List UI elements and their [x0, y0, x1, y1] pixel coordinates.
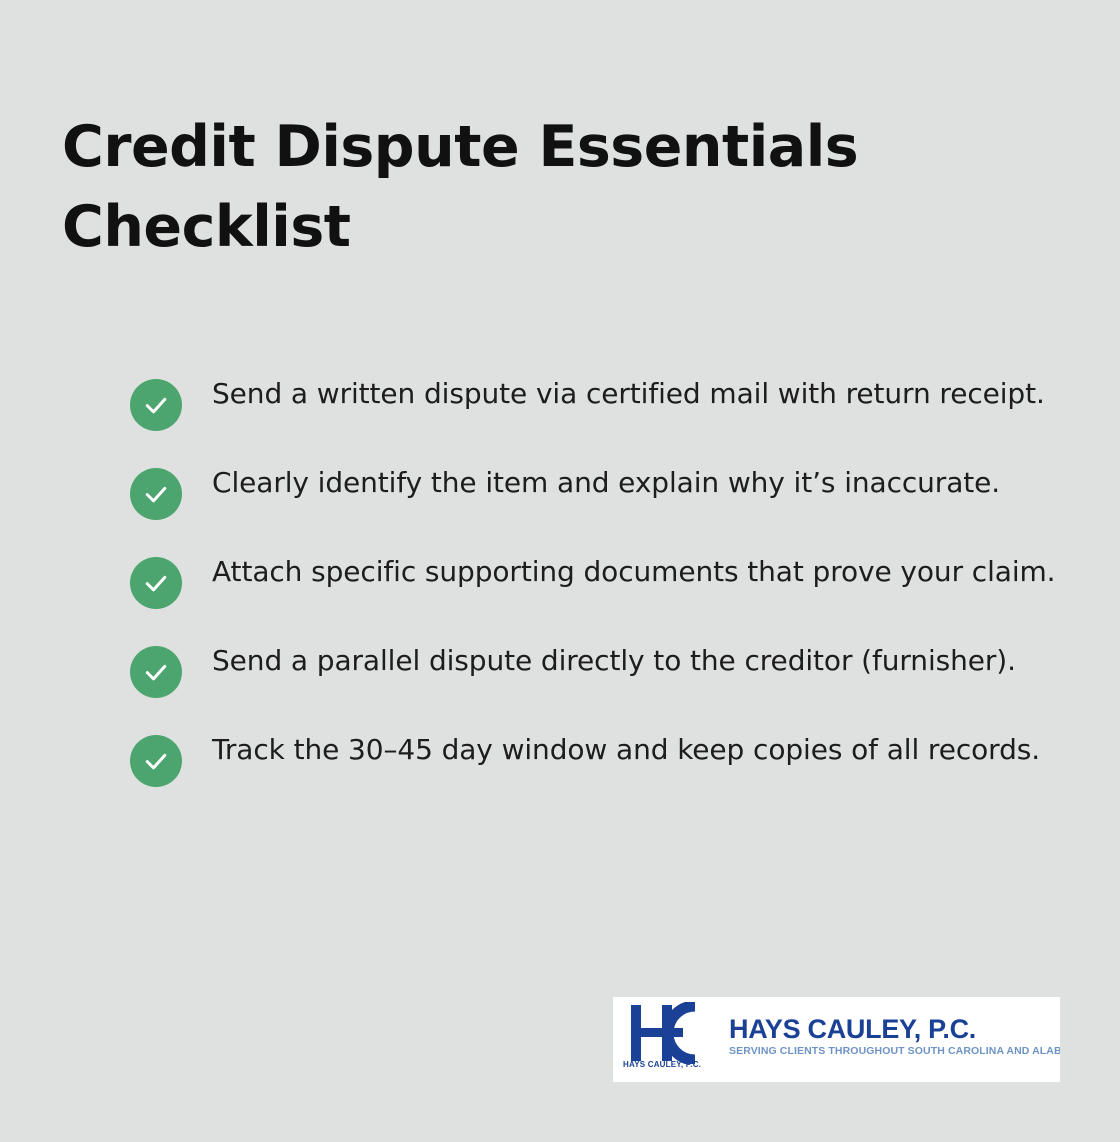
title-block: Credit Dispute Essentials Checklist [62, 108, 942, 268]
checklist: Send a written dispute via certified mai… [130, 372, 1060, 787]
check-icon [130, 557, 182, 609]
monogram-caption: HAYS CAULEY, P.C. [623, 1060, 701, 1069]
page-title: Credit Dispute Essentials Checklist [62, 108, 942, 268]
check-icon [130, 735, 182, 787]
infographic-card: Credit Dispute Essentials Checklist Send… [0, 0, 1120, 1142]
list-item-label: Clearly identify the item and explain wh… [182, 461, 1060, 505]
list-item: Track the 30–45 day window and keep copi… [130, 728, 1060, 787]
hc-monogram-icon: HAYS CAULEY, P.C. [621, 997, 725, 1082]
list-item-label: Attach specific supporting documents tha… [182, 550, 1060, 594]
check-icon [130, 646, 182, 698]
check-icon [130, 379, 182, 431]
list-item: Send a parallel dispute directly to the … [130, 639, 1060, 698]
list-item-label: Send a parallel dispute directly to the … [182, 639, 1060, 683]
logo-wordmark: HAYS CAULEY, P.C. SERVING CLIENTS THROUG… [725, 1015, 1060, 1064]
list-item-label: Track the 30–45 day window and keep copi… [182, 728, 1060, 772]
firm-name: HAYS CAULEY, P.C. [729, 1015, 1060, 1043]
list-item: Attach specific supporting documents tha… [130, 550, 1060, 609]
firm-logo: HAYS CAULEY, P.C. HAYS CAULEY, P.C. SERV… [613, 997, 1060, 1082]
list-item-label: Send a written dispute via certified mai… [182, 372, 1060, 416]
firm-tagline: SERVING CLIENTS THROUGHOUT SOUTH CAROLIN… [729, 1046, 1060, 1058]
check-icon [130, 468, 182, 520]
list-item: Send a written dispute via certified mai… [130, 372, 1060, 431]
list-item: Clearly identify the item and explain wh… [130, 461, 1060, 520]
